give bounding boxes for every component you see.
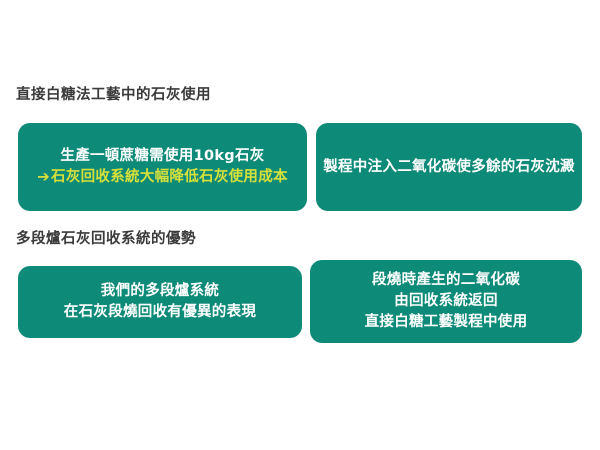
card-co2-injection: 製程中注入二氧化碳使多餘的石灰沈澱 <box>316 123 582 211</box>
card-line-co2-return-2: 由回收系統返回 <box>394 291 498 312</box>
arrow-right-icon: ➔ <box>37 167 50 188</box>
card-line-multi-hearth-2: 在石灰段燒回收有優異的表現 <box>64 302 256 323</box>
card-line-lime-consumption-2: ➔ 石灰回收系統大幅降低石灰使用成本 <box>37 167 288 188</box>
card-line-multi-hearth-1: 我們的多段爐系統 <box>101 281 219 302</box>
section-heading-lime-usage: 直接白糖法工藝中的石灰使用 <box>16 88 211 103</box>
slide-canvas: 直接白糖法工藝中的石灰使用 生產一頓蔗糖需使用10kg石灰 ➔ 石灰回收系統大幅… <box>0 0 600 450</box>
card-co2-return: 段燒時產生的二氧化碳 由回收系統返回 直接白糖工藝製程中使用 <box>310 260 582 343</box>
card-line-co2-return-1: 段燒時產生的二氧化碳 <box>372 270 520 291</box>
card-line-lime-consumption-1: 生產一頓蔗糖需使用10kg石灰 <box>60 146 264 167</box>
card-line-co2-injection-1: 製程中注入二氧化碳使多餘的石灰沈澱 <box>323 157 575 178</box>
card-line-lime-consumption-2-label: 石灰回收系統大幅降低石灰使用成本 <box>51 167 288 188</box>
card-multi-hearth-performance: 我們的多段爐系統 在石灰段燒回收有優異的表現 <box>18 266 302 338</box>
card-line-co2-return-3: 直接白糖工藝製程中使用 <box>365 312 528 333</box>
section-heading-advantages: 多段爐石灰回收系統的優勢 <box>16 232 196 247</box>
card-lime-consumption: 生產一頓蔗糖需使用10kg石灰 ➔ 石灰回收系統大幅降低石灰使用成本 <box>18 123 307 211</box>
